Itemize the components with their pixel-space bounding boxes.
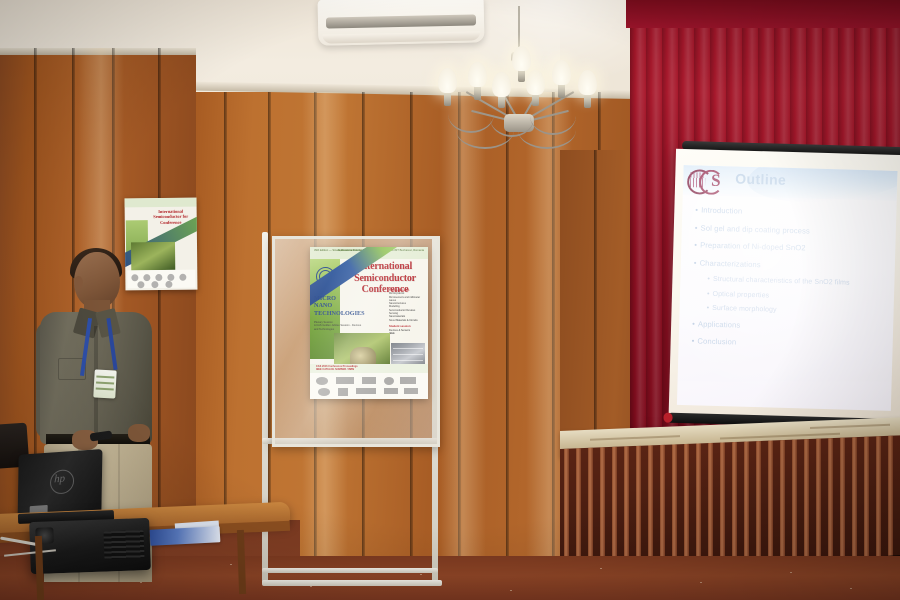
conference-poster: 39th Edition — Sinaia, Romania October 1… (310, 247, 428, 399)
slide-sub-bullet: Surface morphology (707, 305, 889, 317)
slide-bullet: Preparation of Ni-doped SnO2 (694, 240, 890, 254)
slide-title: Outline (735, 170, 786, 187)
poster-session-block: Plenary Session A CAS Golden Jubilee Ses… (314, 321, 366, 331)
projection-screen: S Outline Introduction Sol gel and dip c… (668, 145, 900, 446)
slide-sub-bullet: Optical properties (707, 290, 889, 302)
ear (74, 276, 83, 289)
poster-banner-text: CAS 2016 Conference Proceedings IEEE CAT… (316, 365, 358, 371)
curtain-valance (626, 0, 900, 28)
slide-bullet: Introduction (695, 205, 891, 219)
poster-bottom-banner: CAS 2016 Conference Proceedings IEEE CAT… (310, 364, 428, 373)
conference-room-photo: S Outline Introduction Sol gel and dip c… (0, 0, 900, 600)
slide-bullet: Conclusion (692, 336, 888, 350)
screen-surface: S Outline Introduction Sol gel and dip c… (668, 149, 900, 427)
cas-logo-icon: S (687, 168, 728, 193)
slide-sub-bullet: Structural characteristics of the SnO2 f… (707, 276, 889, 288)
easel: 39th Edition — Sinaia, Romania October 1… (262, 232, 444, 590)
slide-bullet-list: Introduction Sol gel and dip coating pro… (691, 205, 891, 359)
poster-topics-block: Topics Session Microsystems Microsensors… (389, 289, 425, 335)
poster-subtitle: MICRO NANO TECHNOLOGIES (314, 295, 364, 317)
poster-sponsor-logos (310, 373, 428, 399)
hp-logo-icon: hp (50, 469, 74, 495)
slide-bullet: Sol gel and dip coating process (695, 223, 891, 237)
projector-grille (104, 530, 145, 559)
radiator-cover (560, 435, 900, 569)
slide-bullet: Applications (692, 319, 888, 333)
cas-logo-letter: S (711, 171, 721, 190)
slide-bullet: Characterizations (694, 258, 890, 272)
name-badge (93, 369, 116, 398)
presentation-slide: S Outline Introduction Sol gel and dip c… (677, 165, 898, 411)
easel-board: 39th Edition — Sinaia, Romania October 1… (272, 236, 440, 447)
projector[interactable] (29, 518, 151, 574)
right-hand (128, 424, 150, 442)
chandelier (432, 6, 608, 146)
